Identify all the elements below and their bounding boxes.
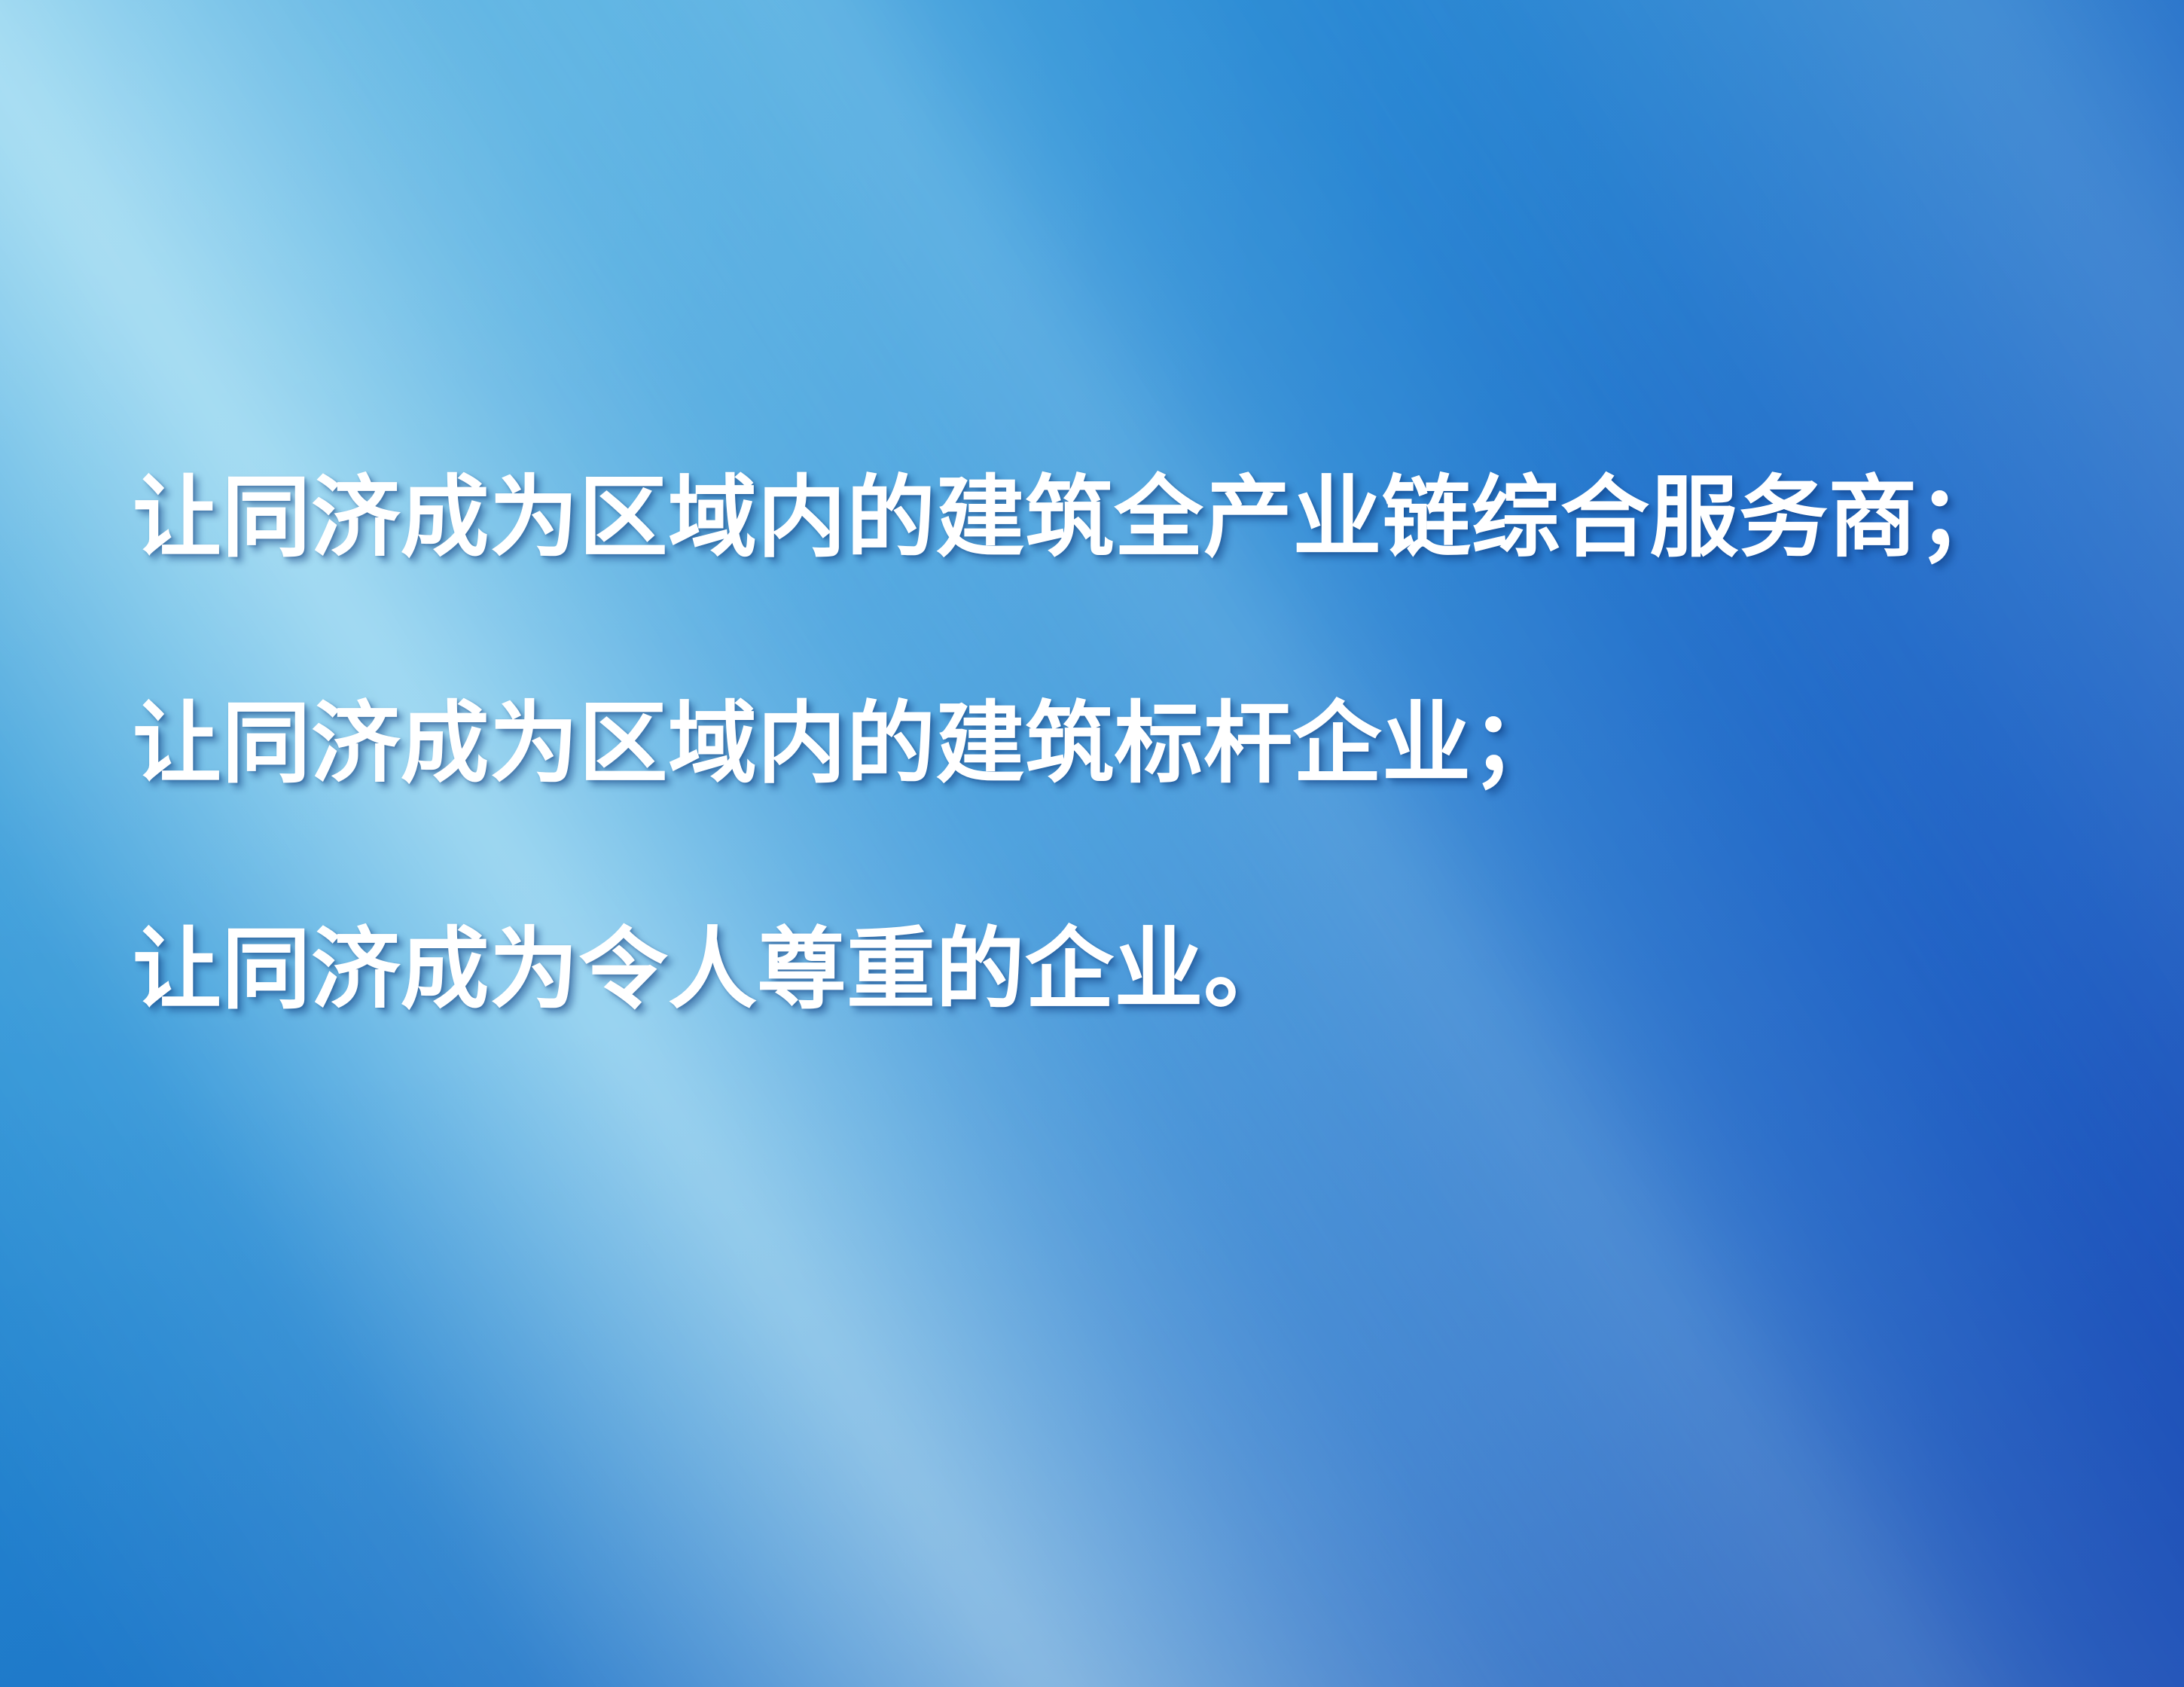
presentation-slide: 让同济成为区域内的建筑全产业链综合服务商； 让同济成为区域内的建筑标杆企业； 让…	[0, 0, 2184, 1687]
slide-text-block: 让同济成为区域内的建筑全产业链综合服务商； 让同济成为区域内的建筑标杆企业； 让…	[133, 473, 2060, 1151]
slide-text-line-3: 让同济成为令人尊重的企业。	[133, 925, 2060, 1151]
slide-text-line-2: 让同济成为区域内的建筑标杆企业；	[133, 699, 2060, 925]
slide-text-line-1: 让同济成为区域内的建筑全产业链综合服务商；	[133, 473, 2060, 699]
